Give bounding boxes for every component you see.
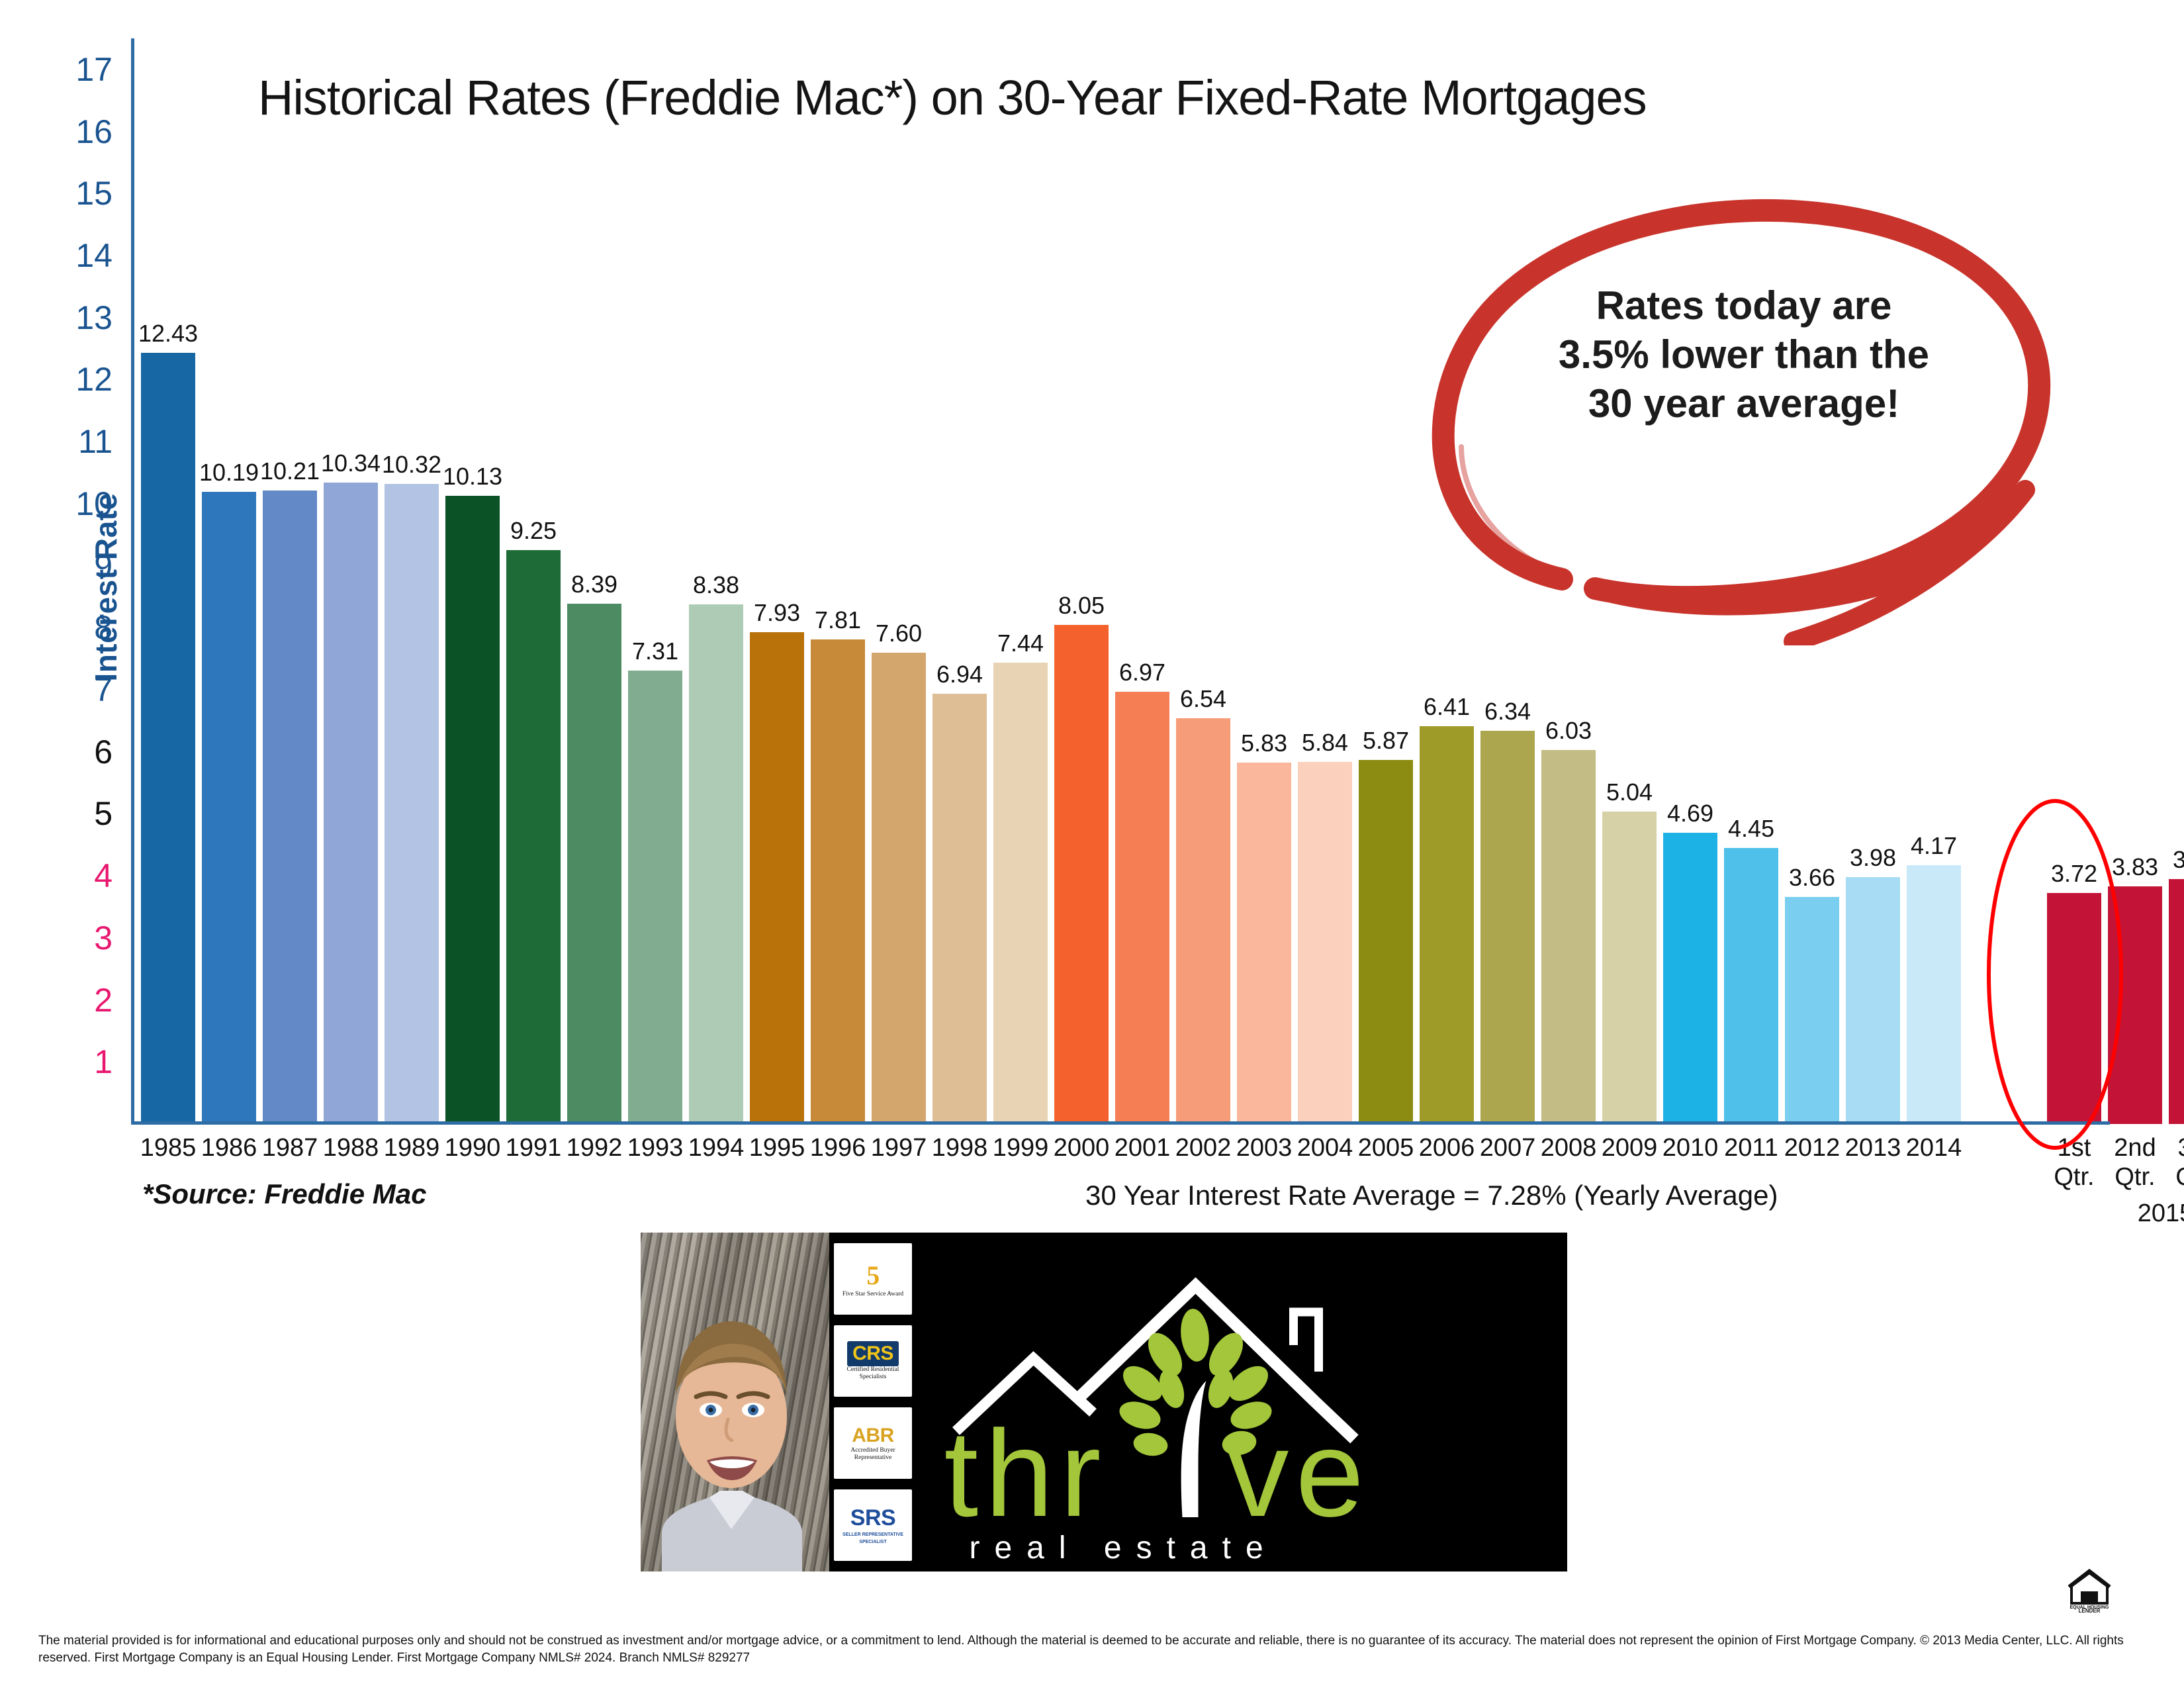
badge-5: 5Five Star Service Award	[834, 1243, 912, 1315]
bar-1988[interactable]	[324, 483, 378, 1124]
svg-text:ve: ve	[1228, 1405, 1371, 1542]
bar-slot: 6.94	[933, 38, 987, 1124]
y-tick-13: 13	[40, 301, 113, 334]
bar-1996[interactable]	[811, 639, 865, 1124]
bar-slot: 8.39	[567, 38, 621, 1124]
y-tick-5: 5	[40, 797, 113, 830]
branding-panel: 5Five Star Service AwardCRSCertified Res…	[641, 1233, 1567, 1571]
x-tick-2002: 2002	[1168, 1133, 1238, 1162]
bar-value-label: 10.34	[321, 449, 381, 477]
thrive-logo-icon: thr ve real estate	[917, 1233, 1567, 1571]
bar-2003[interactable]	[1237, 763, 1291, 1124]
x-tick-2006: 2006	[1412, 1133, 1482, 1162]
bar-2009[interactable]	[1602, 812, 1657, 1124]
bar-2012[interactable]	[1785, 897, 1839, 1124]
x-tick-2009: 2009	[1594, 1133, 1664, 1162]
badge-crs: CRSCertified Residential Specialists	[834, 1325, 912, 1397]
bar-value-label: 10.19	[199, 459, 259, 487]
badge-title: CRS	[847, 1341, 899, 1366]
bar-slot: 7.31	[628, 38, 682, 1124]
bar-value-label: 3.66	[1789, 864, 1835, 892]
bar-slot: 7.81	[811, 38, 865, 1124]
equal-housing-lender-icon: EQUAL HOUSING LENDER	[2066, 1565, 2113, 1613]
bar-value-label: 4.45	[1728, 815, 1774, 843]
bar-1999[interactable]	[993, 663, 1048, 1124]
bar-slot: 10.32	[385, 38, 439, 1124]
y-tick-11: 11	[40, 425, 113, 458]
bar-slot: 7.93	[750, 38, 804, 1124]
x-axis-line	[131, 1121, 2110, 1125]
y-tick-2: 2	[40, 984, 113, 1017]
bar-slot: 7.44	[993, 38, 1048, 1124]
bar-value-label: 8.05	[1058, 592, 1105, 620]
bar-value-label: 9.25	[510, 517, 557, 545]
thrive-logo: thr ve real estate	[917, 1233, 1567, 1571]
y-tick-6: 6	[40, 735, 113, 769]
x-tick-1989: 1989	[377, 1133, 447, 1162]
bar-value-label: 6.97	[1119, 659, 1165, 686]
bar-value-label: 6.34	[1484, 698, 1531, 726]
bar-slot: 10.34	[324, 38, 378, 1124]
y-tick-3: 3	[40, 921, 113, 955]
y-tick-7: 7	[40, 673, 113, 706]
x-tick-2014: 2014	[1899, 1133, 1969, 1162]
x-tick-1997: 1997	[864, 1133, 934, 1162]
bar-2006[interactable]	[1420, 726, 1474, 1124]
y-tick-12: 12	[40, 363, 113, 396]
x-tick-1999: 1999	[985, 1133, 1056, 1162]
bar-slot: 12.43	[141, 38, 195, 1124]
x-tick-1988: 1988	[316, 1133, 386, 1162]
bar-value-label: 6.03	[1545, 717, 1592, 745]
bar-value-label: 3.98	[1850, 844, 1896, 872]
bar-slot: 8.05	[1054, 38, 1109, 1124]
bar-1986[interactable]	[202, 492, 256, 1124]
y-tick-1: 1	[40, 1045, 113, 1078]
bar-value-label: 7.93	[754, 599, 800, 627]
x-tick-2007: 2007	[1473, 1133, 1543, 1162]
bar-1994[interactable]	[689, 604, 743, 1124]
badge-subtitle: Certified Residential Specialists	[834, 1366, 912, 1381]
x-tick-2013: 2013	[1838, 1133, 1908, 1162]
disclaimer-text: The material provided is for information…	[38, 1632, 2150, 1667]
bar-value-label: 5.84	[1302, 729, 1348, 757]
agent-portrait-icon	[649, 1287, 814, 1571]
x-tick-1986: 1986	[194, 1133, 264, 1162]
x-tick-2004: 2004	[1290, 1133, 1360, 1162]
bar-1987[interactable]	[263, 491, 317, 1124]
badge-subtitle: Accredited Buyer Representative	[834, 1447, 912, 1462]
bar-1992[interactable]	[567, 604, 621, 1124]
bar-slot: 10.13	[445, 38, 500, 1124]
badge-subtitle: SELLER REPRESENTATIVE SPECIALIST	[834, 1531, 912, 1546]
x-tick-2012: 2012	[1777, 1133, 1847, 1162]
x-tick-2011: 2011	[1716, 1133, 1786, 1162]
bar-value-label: 10.13	[443, 463, 502, 491]
x-tick-2001: 2001	[1107, 1133, 1177, 1162]
badge-title: ABR	[852, 1425, 894, 1447]
svg-text:thr: thr	[944, 1405, 1108, 1542]
callout-line-2: 3.5% lower than the	[1519, 330, 1969, 379]
bar-1998[interactable]	[933, 694, 987, 1124]
bar-slot: 6.54	[1176, 38, 1230, 1124]
y-tick-9: 9	[40, 549, 113, 583]
bar-value-label: 7.81	[815, 606, 861, 634]
bar-1997[interactable]	[872, 653, 926, 1124]
badge-title: 5	[866, 1260, 880, 1291]
bar-slot: 5.83	[1237, 38, 1291, 1124]
badge-abr: ABRAccredited Buyer Representative	[834, 1407, 912, 1479]
bar-1985[interactable]	[141, 353, 195, 1124]
x-tick-1995: 1995	[742, 1133, 812, 1162]
badge-title: SRS	[850, 1505, 895, 1531]
bar-value-label: 4.69	[1667, 800, 1713, 827]
bar-2000[interactable]	[1054, 625, 1109, 1124]
bar-1991[interactable]	[506, 550, 561, 1124]
y-tick-16: 16	[40, 115, 113, 148]
source-note: *Source: Freddie Mac	[142, 1178, 426, 1210]
credential-badges: 5Five Star Service AwardCRSCertified Res…	[829, 1233, 917, 1571]
bar-slot: 6.97	[1115, 38, 1169, 1124]
bar-2005[interactable]	[1359, 760, 1413, 1124]
callout-annotation: Rates today are 3.5% lower than the 30 y…	[1396, 182, 2078, 645]
x-tick-1990: 1990	[437, 1133, 508, 1162]
quarter-group-label: 2015	[2047, 1199, 2184, 1228]
bar-value-label: 7.31	[632, 637, 678, 665]
y-tick-17: 17	[40, 53, 113, 86]
callout-text: Rates today are 3.5% lower than the 30 y…	[1519, 281, 1969, 428]
y-tick-10: 10	[40, 487, 113, 520]
bar-1990[interactable]	[445, 496, 500, 1124]
badge-subtitle: Five Star Service Award	[841, 1291, 905, 1298]
bar-value-label: 8.39	[571, 571, 617, 598]
bar-2007[interactable]	[1480, 731, 1535, 1124]
bar-value-label: 6.41	[1424, 693, 1470, 721]
bar-value-label: 7.44	[997, 630, 1044, 657]
x-tick-2010: 2010	[1655, 1133, 1725, 1162]
bar-value-label: 7.60	[876, 620, 922, 647]
x-tick-2003: 2003	[1229, 1133, 1299, 1162]
badge-srs: SRSSELLER REPRESENTATIVE SPECIALIST	[834, 1489, 912, 1561]
bar-slot: 10.19	[202, 38, 256, 1124]
x-tick-1985: 1985	[133, 1133, 203, 1162]
bar-value-label: 5.83	[1241, 729, 1287, 757]
bar-value-label: 8.38	[693, 571, 739, 599]
bar-value-label: 12.43	[138, 320, 198, 348]
bar-slot: 5.84	[1298, 38, 1352, 1124]
x-tick-2000: 2000	[1046, 1133, 1116, 1162]
bar-value-label: 5.87	[1363, 727, 1409, 755]
callout-line-1: Rates today are	[1519, 281, 1969, 330]
x-tick-1992: 1992	[559, 1133, 629, 1162]
bar-1993[interactable]	[628, 671, 682, 1124]
bar-value-label: 6.54	[1180, 685, 1226, 713]
bar-2001[interactable]	[1115, 692, 1169, 1124]
x-tick-1987: 1987	[255, 1133, 325, 1162]
x-tick-2005: 2005	[1351, 1133, 1421, 1162]
y-tick-8: 8	[40, 611, 113, 644]
infographic-page: Historical Rates (Freddie Mac*) on 30-Ye…	[0, 0, 2184, 1688]
bar-slot: 8.38	[689, 38, 743, 1124]
svg-text:real estate: real estate	[970, 1530, 1278, 1566]
svg-text:LENDER: LENDER	[2079, 1608, 2101, 1613]
y-tick-15: 15	[40, 177, 113, 210]
x-tick-2008: 2008	[1533, 1133, 1604, 1162]
bar-value-label: 6.94	[936, 661, 983, 688]
bar-2011[interactable]	[1724, 848, 1778, 1124]
bar-value-label: 10.21	[260, 457, 320, 485]
q4-highlight-ellipse-icon	[1982, 798, 2128, 1152]
bar-slot: 10.21	[263, 38, 317, 1124]
bar-2013[interactable]	[1846, 877, 1900, 1124]
average-note: 30 Year Interest Rate Average = 7.28% (Y…	[1085, 1180, 1778, 1211]
bar-2008[interactable]	[1541, 750, 1596, 1124]
agent-photo	[641, 1233, 829, 1571]
x-tick-1998: 1998	[925, 1133, 995, 1162]
x-tick-1991: 1991	[498, 1133, 569, 1162]
bar-value-label: 5.04	[1606, 778, 1653, 806]
bar-slot: 9.25	[506, 38, 561, 1124]
bar-2010[interactable]	[1663, 833, 1717, 1124]
bar-slot: 3.95	[2169, 38, 2184, 1124]
y-tick-4: 4	[40, 859, 113, 892]
callout-line-3: 30 year average!	[1519, 379, 1969, 428]
bar-value-label: 4.17	[1911, 832, 1957, 860]
bar-1989[interactable]	[385, 484, 439, 1124]
y-tick-14: 14	[40, 239, 113, 272]
bar-slot: 7.60	[872, 38, 926, 1124]
x-tick-1993: 1993	[620, 1133, 690, 1162]
bar-2004[interactable]	[1298, 762, 1352, 1124]
bar-2014[interactable]	[1907, 865, 1961, 1124]
x-tick-3rdqtr: 3rdQtr.	[2161, 1133, 2184, 1192]
bar-1995[interactable]	[750, 632, 804, 1124]
x-tick-1996: 1996	[803, 1133, 873, 1162]
x-tick-1994: 1994	[681, 1133, 751, 1162]
bar-value-label: 3.95	[2173, 846, 2184, 874]
bar-value-label: 10.32	[382, 451, 441, 479]
bar-3rdqtr[interactable]	[2169, 879, 2184, 1124]
bar-2002[interactable]	[1176, 718, 1230, 1124]
